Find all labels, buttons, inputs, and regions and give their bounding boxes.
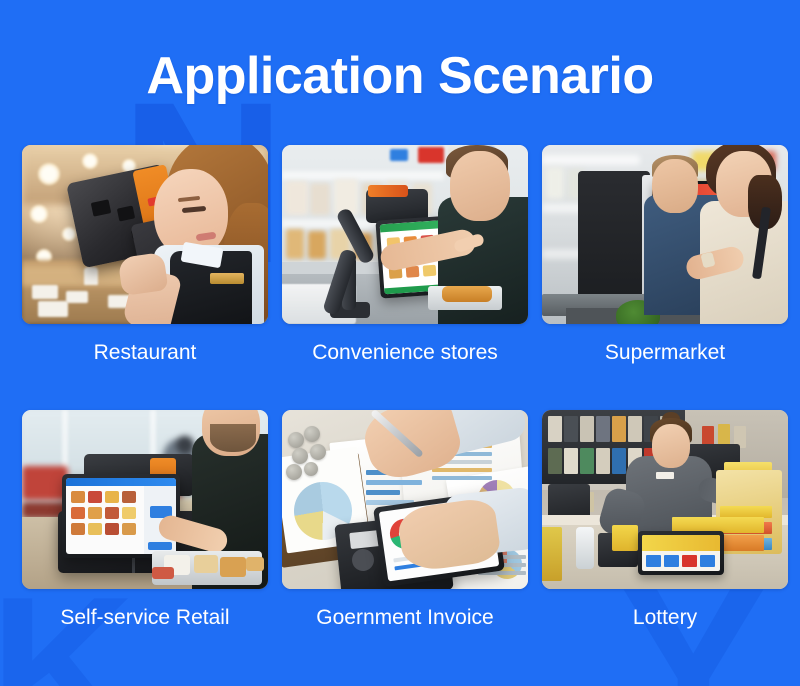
page-title: Application Scenario [0,46,800,106]
scenario-card-convenience-stores[interactable]: Convenience stores [282,145,528,365]
scenario-caption-convenience-stores: Convenience stores [282,341,528,365]
scenario-grid-row-1: Restaurant [22,145,778,365]
scenario-card-lottery[interactable]: Lottery [542,410,788,630]
scenario-card-government-invoice[interactable]: Goernment Invoice [282,410,528,630]
scenario-card-supermarket[interactable]: Supermarket [542,145,788,365]
scenario-image-self-service-retail [22,410,268,589]
application-scenario-page: N O R Y K Application Scenario [0,0,800,686]
scenario-image-lottery [542,410,788,589]
scenario-caption-lottery: Lottery [542,606,788,630]
scenario-caption-restaurant: Restaurant [22,341,268,365]
scenario-caption-self-service-retail: Self-service Retail [22,606,268,630]
scenario-card-self-service-retail[interactable]: Self-service Retail [22,410,268,630]
scenario-caption-supermarket: Supermarket [542,341,788,365]
scenario-card-restaurant[interactable]: Restaurant [22,145,268,365]
scenario-image-supermarket [542,145,788,324]
scenario-image-restaurant [22,145,268,324]
scenario-image-government-invoice [282,410,528,589]
scenario-caption-government-invoice: Goernment Invoice [282,606,528,630]
scenario-image-convenience-stores [282,145,528,324]
scenario-grid-row-2: Self-service Retail [22,410,778,630]
